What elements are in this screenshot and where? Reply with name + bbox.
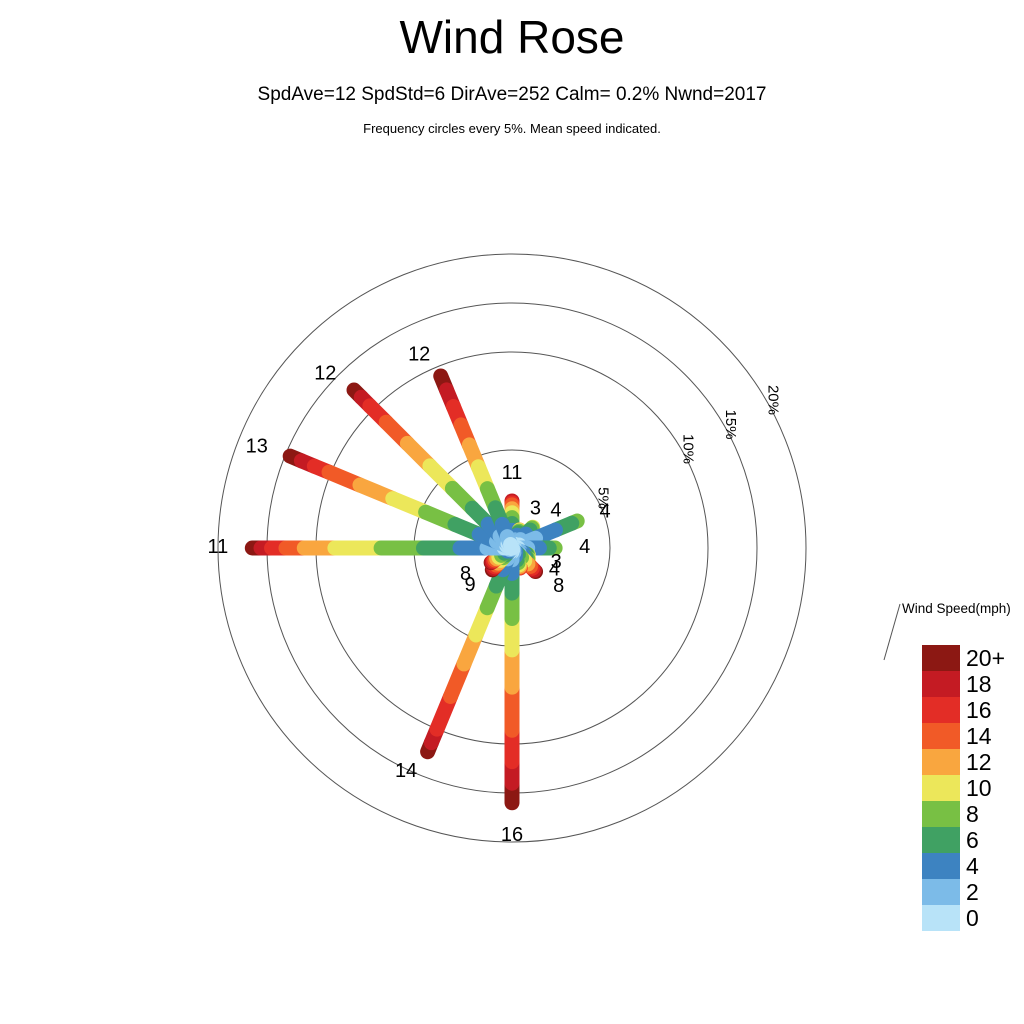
petal-mean-speed-label: 3 — [530, 498, 541, 520]
legend-color-scale: 20+181614121086420 — [922, 645, 960, 931]
legend-label: 2 — [966, 879, 1020, 905]
legend-swatch — [922, 723, 960, 749]
legend-row: 20+ — [922, 645, 960, 671]
legend-label: 8 — [966, 801, 1020, 827]
petal-mean-speed-label: 13 — [246, 436, 268, 458]
petal-mean-speed-label: 12 — [314, 362, 336, 384]
legend-label: 20+ — [966, 645, 1020, 671]
petal-mean-speed-label: 11 — [208, 536, 229, 558]
legend-label: 6 — [966, 827, 1020, 853]
petal-mean-speed-label: 4 — [550, 500, 561, 522]
legend-label: 4 — [966, 853, 1020, 879]
petal-NW — [354, 390, 512, 548]
wind-rose-plot: 5%10%15%20% 11344434816149811131212 — [0, 0, 1024, 1024]
ring-label-20: 20% — [764, 385, 781, 415]
legend-label: 14 — [966, 723, 1020, 749]
legend-swatch — [922, 775, 960, 801]
ring-label-15: 15% — [722, 409, 739, 439]
legend-swatch — [922, 879, 960, 905]
legend-row: 12 — [922, 749, 960, 775]
legend-swatch — [922, 827, 960, 853]
legend-swatch — [922, 853, 960, 879]
legend-title: Wind Speed(mph) — [902, 601, 1011, 616]
legend-swatch — [922, 645, 960, 671]
wind-rose-page: Wind Rose SpdAve=12 SpdStd=6 DirAve=252 … — [0, 0, 1024, 1024]
petal-mean-speed-label: 8 — [553, 575, 564, 597]
legend-row: 8 — [922, 801, 960, 827]
legend-swatch — [922, 671, 960, 697]
petal-mean-speed-label: 4 — [600, 501, 611, 523]
petal-mean-speed-labels: 11344434816149811131212 — [208, 344, 611, 846]
legend-label: 0 — [966, 905, 1020, 931]
legend-swatch — [922, 749, 960, 775]
petal-mean-speed-label: 16 — [501, 824, 523, 846]
legend-label: 18 — [966, 671, 1020, 697]
legend-row: 0 — [922, 905, 960, 931]
legend-row: 6 — [922, 827, 960, 853]
legend-swatch — [922, 801, 960, 827]
petal-mean-speed-label: 8 — [460, 563, 471, 585]
legend-row: 16 — [922, 697, 960, 723]
petal-mean-speed-label: 12 — [408, 344, 430, 366]
legend-label: 10 — [966, 775, 1020, 801]
legend-row: 18 — [922, 671, 960, 697]
petal-segment — [511, 545, 512, 548]
wind-petals — [252, 376, 577, 803]
ring-label-10: 10% — [679, 434, 696, 464]
petal-mean-speed-label: 4 — [579, 536, 590, 558]
legend-leader-line — [884, 604, 900, 660]
legend-leader-line — [884, 604, 900, 660]
legend-row: 2 — [922, 879, 960, 905]
legend-row: 14 — [922, 723, 960, 749]
legend-swatch — [922, 697, 960, 723]
legend-label: 16 — [966, 697, 1020, 723]
legend-swatch — [922, 905, 960, 931]
ring-labels: 5%10%15%20% — [595, 385, 782, 509]
legend-label: 12 — [966, 749, 1020, 775]
legend-row: 4 — [922, 853, 960, 879]
legend-row: 10 — [922, 775, 960, 801]
petal-mean-speed-label: 14 — [395, 760, 417, 782]
petal-mean-speed-label: 11 — [502, 462, 523, 484]
